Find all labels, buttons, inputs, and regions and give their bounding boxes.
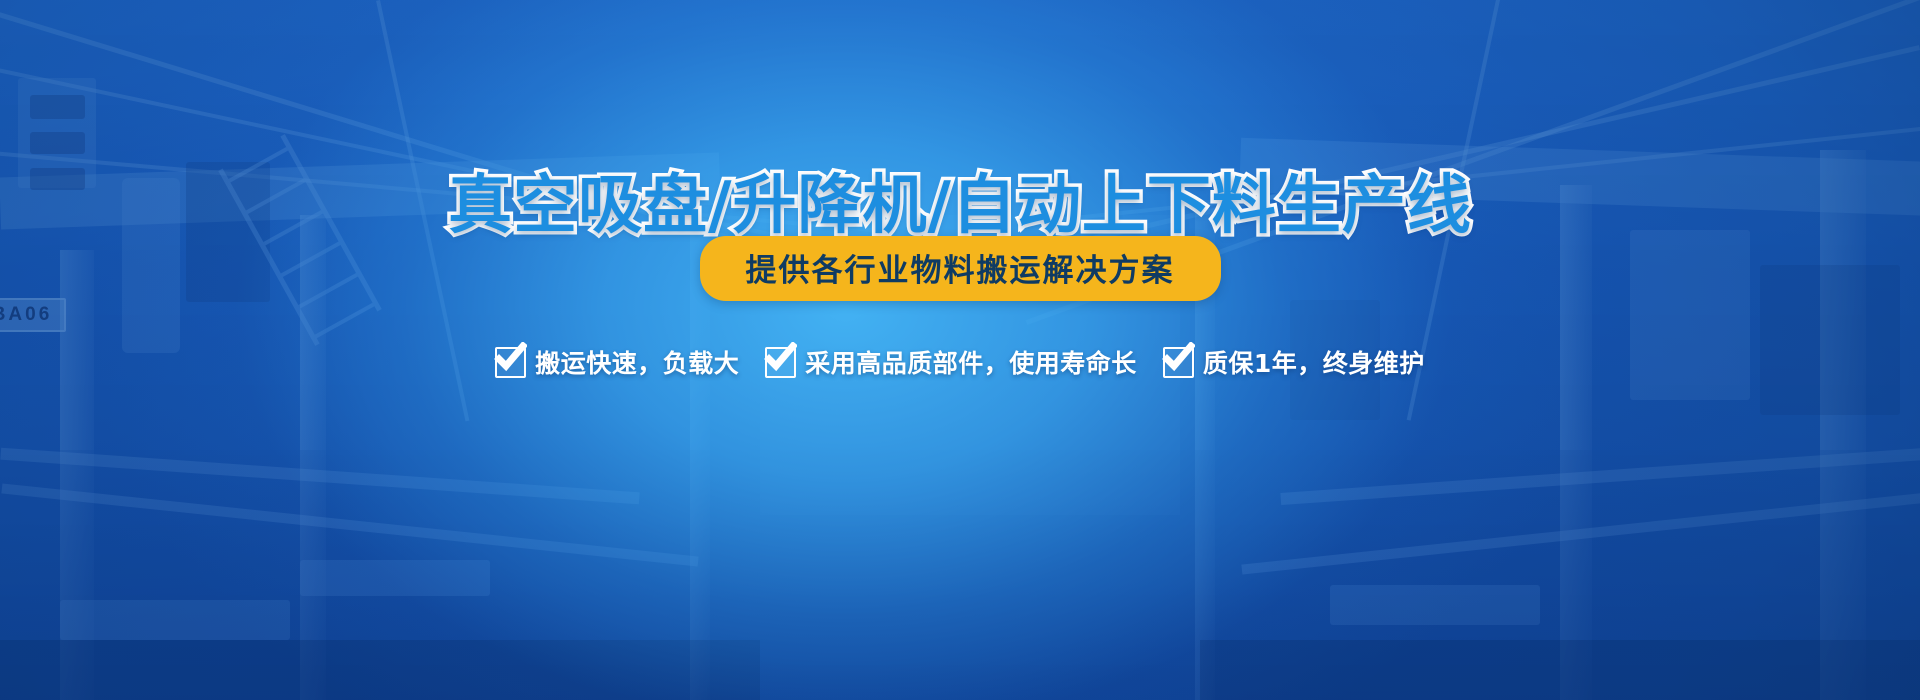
checkbox-checked-icon — [1163, 347, 1194, 378]
feature-item: 采用高品质部件，使用寿命长 — [765, 344, 1137, 380]
checkbox-checked-icon — [495, 347, 526, 378]
hero-banner: BA06 真空吸盘/升降机/自动上下料生产线 提供各行业物料搬运解决 — [0, 0, 1920, 700]
feature-label: 搬运快速，负载大 — [535, 344, 739, 380]
feature-item: 搬运快速，负载大 — [495, 344, 739, 380]
banner-content: 真空吸盘/升降机/自动上下料生产线 提供各行业物料搬运解决方案 搬运快速，负载大 — [0, 0, 1920, 700]
subtitle-pill: 提供各行业物料搬运解决方案 — [700, 236, 1221, 301]
feature-list: 搬运快速，负载大 采用高品质部件，使用寿命长 质保1年，终身维护 — [0, 344, 1920, 380]
checkbox-checked-icon — [765, 347, 796, 378]
subtitle-pill-wrapper: 提供各行业物料搬运解决方案 — [0, 236, 1920, 301]
feature-label: 质保1年，终身维护 — [1203, 344, 1425, 380]
feature-label: 采用高品质部件，使用寿命长 — [805, 344, 1137, 380]
feature-item: 质保1年，终身维护 — [1163, 344, 1425, 380]
banner-headline: 真空吸盘/升降机/自动上下料生产线 — [0, 169, 1920, 245]
